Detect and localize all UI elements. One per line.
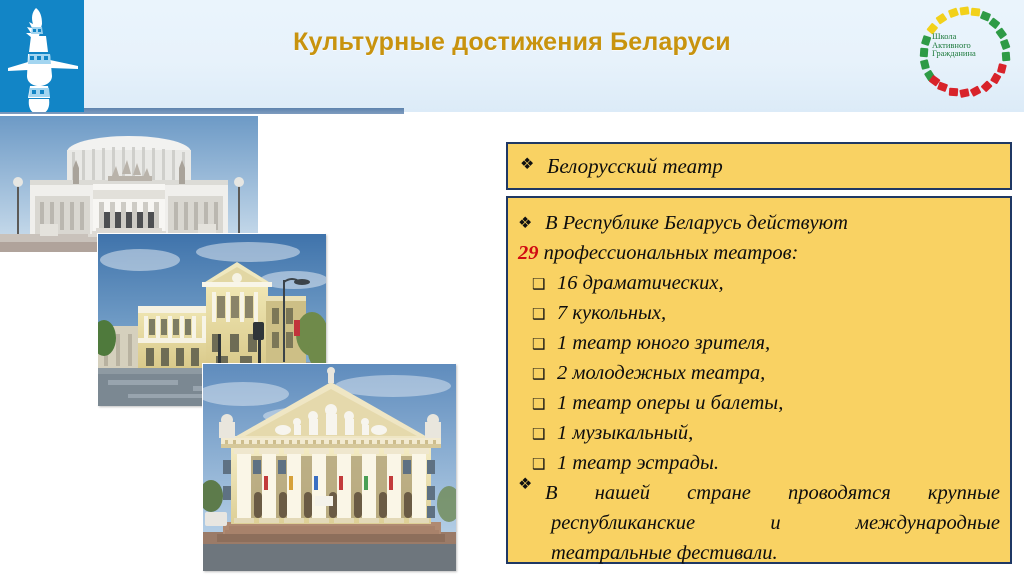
closing-text-1: В нашей стране проводятся крупные xyxy=(545,478,1000,508)
square-bullet-icon: ❑ xyxy=(532,278,551,293)
closing-line-3: театральные фестивали. xyxy=(518,538,1000,568)
square-bullet-icon: ❑ xyxy=(532,338,551,353)
intro-line-1: ❖В Республике Беларусь действуют xyxy=(518,208,1000,238)
square-bullet-icon: ❑ xyxy=(532,398,551,413)
list-item: ❑2 молодежных театра, xyxy=(518,358,1000,388)
closing-line-2: республиканские и международные xyxy=(518,508,1000,538)
list-item-label: 1 театр эстрады. xyxy=(557,452,719,474)
logo-line-3: Гражданина xyxy=(932,49,1002,58)
closing-line-1: ❖ В нашей стране проводятся крупные xyxy=(518,478,1000,508)
heading-text: Белорусский театр xyxy=(547,154,723,179)
logo: Школа Активного Гражданина xyxy=(918,4,1014,102)
intro-line-2: 29 профессиональных театров: xyxy=(518,238,1000,268)
logo-text: Школа Активного Гражданина xyxy=(932,32,1002,58)
photo-3-graphic xyxy=(203,364,456,571)
square-bullet-icon: ❑ xyxy=(532,308,551,323)
list-item: ❑16 драматических, xyxy=(518,268,1000,298)
square-bullet-icon: ❑ xyxy=(532,428,551,443)
list-item-label: 7 кукольных, xyxy=(557,302,666,324)
square-bullet-icon: ❑ xyxy=(532,458,551,473)
list-item: ❑7 кукольных, xyxy=(518,298,1000,328)
list-item: ❑1 театр оперы и балеты, xyxy=(518,388,1000,418)
content-box: ❖В Республике Беларусь действуют 29 проф… xyxy=(506,196,1012,564)
list-item-label: 1 музыкальный, xyxy=(557,422,693,444)
theatre-count: 29 xyxy=(518,242,539,264)
intro-text-2: профессиональных театров: xyxy=(544,242,799,264)
list-item: ❑1 театр юного зрителя, xyxy=(518,328,1000,358)
diamond-bullet-icon: ❖ xyxy=(518,477,537,507)
square-bullet-icon: ❑ xyxy=(532,368,551,383)
slide: Культурные достижения Беларуси xyxy=(0,0,1024,576)
list-item: ❑1 музыкальный, xyxy=(518,418,1000,448)
list-item-label: 1 театр юного зрителя, xyxy=(557,332,770,354)
list-item-label: 1 театр оперы и балеты, xyxy=(557,392,783,414)
heading-line: ❖ Белорусский театр xyxy=(508,144,1010,188)
heading-box: ❖ Белорусский театр xyxy=(506,142,1012,190)
list-item-label: 16 драматических, xyxy=(557,272,724,294)
stork-icon xyxy=(6,2,80,112)
photo-bolshoi-opera-ballet-theatre xyxy=(0,116,258,252)
page-title: Культурные достижения Беларуси xyxy=(0,28,1024,57)
photo-1-graphic xyxy=(0,116,258,252)
photo-palace-of-culture-trade-unions xyxy=(203,364,456,571)
list-item-label: 2 молодежных театра, xyxy=(557,362,765,384)
list-item: ❑1 театр эстрады. xyxy=(518,448,1000,478)
closing-paragraph: ❖ В нашей стране проводятся крупные респ… xyxy=(518,478,1000,568)
intro-text-1: В Республике Беларусь действуют xyxy=(545,212,848,234)
diamond-bullet-icon: ❖ xyxy=(518,216,537,232)
diamond-bullet-icon: ❖ xyxy=(520,157,539,173)
